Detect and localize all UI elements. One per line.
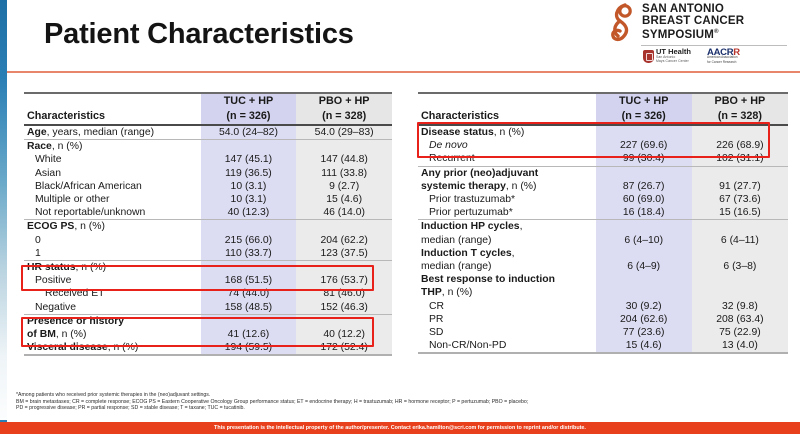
table-row: Negative158 (48.5)152 (46.3) xyxy=(24,301,392,315)
row-label-bold: systemic therapy xyxy=(421,181,506,192)
row-label: Received ET xyxy=(24,287,201,300)
row-label-bold: HR status xyxy=(27,262,76,273)
row-label-rest: , n (%) xyxy=(76,262,107,273)
row-label: Asian xyxy=(24,167,201,180)
cell-tuc-hp: 40 (12.3) xyxy=(201,206,297,220)
row-label: Prior pertuzumab* xyxy=(418,206,596,220)
row-label: systemic therapy, n (%) xyxy=(418,180,596,193)
cell-pbo-hp: 226 (68.9) xyxy=(692,139,788,152)
logo-trademark: ® xyxy=(714,29,719,35)
row-label-rest: median (range) xyxy=(421,261,491,272)
row-label: Negative xyxy=(24,301,201,315)
footnotes: *Among patients who received prior syste… xyxy=(16,392,788,412)
row-label: Best response to induction xyxy=(418,273,596,286)
row-label-bold: ECOG PS xyxy=(27,221,74,232)
table-row: Multiple or other10 (3.1)15 (4.6) xyxy=(24,193,392,206)
row-label-rest: Non-CR/Non-PD xyxy=(429,340,506,351)
cell-tuc-hp: 158 (48.5) xyxy=(201,301,297,315)
table-row: Induction HP cycles, xyxy=(418,220,788,234)
cell-tuc-hp xyxy=(201,220,297,234)
row-label-bold: Induction HP cycles xyxy=(421,221,520,232)
row-label: Multiple or other xyxy=(24,193,201,206)
aacr-sub1: American Association xyxy=(707,55,740,60)
row-label: White xyxy=(24,153,201,166)
row-label-bold: Disease status xyxy=(421,127,494,138)
cell-pbo-hp: 81 (46.0) xyxy=(296,287,392,300)
cell-pbo-hp xyxy=(296,314,392,328)
table-row: THP, n (%) xyxy=(418,286,788,299)
row-label: Prior trastuzumab* xyxy=(418,193,596,206)
patient-characteristics-table-right: TUC + HP PBO + HP Characteristics (n = 3… xyxy=(418,92,788,354)
cell-tuc-hp: 10 (3.1) xyxy=(201,193,297,206)
cell-pbo-hp xyxy=(692,125,788,139)
row-label-rest: Prior pertuzumab* xyxy=(429,207,513,218)
table-row: ECOG PS, n (%) xyxy=(24,220,392,234)
cell-pbo-hp: 9 (2.7) xyxy=(296,180,392,193)
row-label-rest: , xyxy=(520,221,523,232)
table-row: SD77 (23.6)75 (22.9) xyxy=(418,326,788,339)
table-row: 0215 (66.0)204 (62.2) xyxy=(24,234,392,247)
logo-line-3: SYMPOSIUM xyxy=(642,29,714,41)
cell-tuc-hp: 41 (12.6) xyxy=(201,328,297,341)
table-row: median (range)6 (4–10)6 (4–11) xyxy=(418,234,788,247)
cell-pbo-hp: 147 (44.8) xyxy=(296,153,392,166)
row-label-bold: Race xyxy=(27,141,52,152)
row-label: Presence or history xyxy=(24,314,201,328)
cell-pbo-hp: 208 (63.4) xyxy=(692,313,788,326)
cell-tuc-hp: 74 (44.0) xyxy=(201,287,297,300)
cell-tuc-hp xyxy=(596,273,692,286)
cell-pbo-hp: 172 (52.4) xyxy=(296,341,392,355)
row-label-rest: , n (%) xyxy=(108,342,139,353)
table-row: Visceral disease, n (%)194 (59.5)172 (52… xyxy=(24,341,392,355)
row-label: Non-CR/Non-PD xyxy=(418,339,596,353)
cell-tuc-hp: 15 (4.6) xyxy=(596,339,692,353)
cell-pbo-hp: 75 (22.9) xyxy=(692,326,788,339)
row-label-bold: Presence or history xyxy=(27,316,124,327)
row-label: Not reportable/unknown xyxy=(24,206,201,220)
cell-pbo-hp: 13 (4.0) xyxy=(692,339,788,353)
cell-tuc-hp xyxy=(201,140,297,154)
row-label: 0 xyxy=(24,234,201,247)
row-label: of BM, n (%) xyxy=(24,328,201,341)
row-label-rest: Prior trastuzumab* xyxy=(429,194,515,205)
row-label: Recurrent xyxy=(418,152,596,166)
table-row: Age, years, median (range)54.0 (24–82)54… xyxy=(24,125,392,140)
aacr-sub2: for Cancer Research xyxy=(707,60,740,65)
table-row: Non-CR/Non-PD15 (4.6)13 (4.0) xyxy=(418,339,788,353)
cell-tuc-hp: 168 (51.5) xyxy=(201,274,297,287)
cell-pbo-hp: 54.0 (29–83) xyxy=(296,125,392,140)
ut-health-logo: UT Health San Antonio Mays Cancer Center xyxy=(643,48,691,64)
table-row: median (range)6 (4–9)6 (3–8) xyxy=(418,260,788,273)
row-label-rest: median (range) xyxy=(421,235,491,246)
row-label: Black/African American xyxy=(24,180,201,193)
cell-tuc-hp xyxy=(596,220,692,234)
table-row: PR204 (62.6)208 (63.4) xyxy=(418,313,788,326)
cell-pbo-hp: 176 (53.7) xyxy=(296,274,392,287)
cell-tuc-hp: 6 (4–10) xyxy=(596,234,692,247)
cell-tuc-hp: 10 (3.1) xyxy=(201,180,297,193)
footnote-line-2: BM = brain metastases; CR = complete res… xyxy=(16,399,788,406)
cell-pbo-hp xyxy=(296,261,392,275)
row-label-bold: THP xyxy=(421,287,442,298)
cell-tuc-hp: 87 (26.7) xyxy=(596,180,692,193)
row-label: THP, n (%) xyxy=(418,286,596,299)
cell-tuc-hp: 30 (9.2) xyxy=(596,300,692,313)
row-label-rest: , n (%) xyxy=(74,221,105,232)
title-divider-rule xyxy=(7,71,800,73)
row-label-rest: Multiple or other xyxy=(35,194,110,205)
copyright-banner: This presentation is the intellectual pr… xyxy=(0,422,800,434)
sabcs-ribbon-icon xyxy=(605,3,639,43)
table-left-header-spacer xyxy=(24,93,201,109)
row-label: HR status, n (%) xyxy=(24,261,201,275)
table-row: Recurrent99 (30.4)102 (31.1) xyxy=(418,152,788,166)
row-label-rest: , years, median (range) xyxy=(47,127,154,138)
cell-tuc-hp: 227 (69.6) xyxy=(596,139,692,152)
row-label: Visceral disease, n (%) xyxy=(24,341,201,355)
table-row: Black/African American10 (3.1)9 (2.7) xyxy=(24,180,392,193)
table-right-header-col-a-line2: (n = 326) xyxy=(596,109,692,125)
table-row: systemic therapy, n (%)87 (26.7)91 (27.7… xyxy=(418,180,788,193)
table-row: Race, n (%) xyxy=(24,140,392,154)
cell-tuc-hp xyxy=(596,125,692,139)
table-row: White147 (45.1)147 (44.8) xyxy=(24,153,392,166)
row-label-rest: , xyxy=(512,248,515,259)
table-left-header-col-a-line2: (n = 326) xyxy=(201,109,297,125)
row-label-rest: De novo xyxy=(429,140,468,151)
cell-pbo-hp: 204 (62.2) xyxy=(296,234,392,247)
cell-tuc-hp: 6 (4–9) xyxy=(596,260,692,273)
cell-tuc-hp: 99 (30.4) xyxy=(596,152,692,166)
aacr-logo: AACRR American Association for Cancer Re… xyxy=(707,48,740,65)
row-label: median (range) xyxy=(418,234,596,247)
ut-health-sub2: Mays Cancer Center xyxy=(656,59,691,64)
cell-tuc-hp: 16 (18.4) xyxy=(596,206,692,220)
row-label: Induction T cycles, xyxy=(418,247,596,260)
cell-pbo-hp: 32 (9.8) xyxy=(692,300,788,313)
cell-tuc-hp: 194 (59.5) xyxy=(201,341,297,355)
table-right-header-col-b-line1: PBO + HP xyxy=(692,93,788,109)
table-right-header-col-a-line1: TUC + HP xyxy=(596,93,692,109)
table-left-header-col-a-line1: TUC + HP xyxy=(201,93,297,109)
cell-pbo-hp: 123 (37.5) xyxy=(296,247,392,261)
row-label-bold: of BM xyxy=(27,329,56,340)
row-label-rest: Negative xyxy=(35,302,76,313)
table-left-header-characteristics: Characteristics xyxy=(24,109,201,125)
table-row: Positive168 (51.5)176 (53.7) xyxy=(24,274,392,287)
cell-pbo-hp: 67 (73.6) xyxy=(692,193,788,206)
row-label-rest: Asian xyxy=(35,168,61,179)
row-label-rest: SD xyxy=(429,327,443,338)
cell-tuc-hp xyxy=(201,314,297,328)
row-label-rest: , n (%) xyxy=(506,181,537,192)
table-row: Received ET74 (44.0)81 (46.0) xyxy=(24,287,392,300)
cell-pbo-hp xyxy=(296,220,392,234)
row-label: CR xyxy=(418,300,596,313)
cell-pbo-hp: 111 (33.8) xyxy=(296,167,392,180)
cell-tuc-hp: 147 (45.1) xyxy=(201,153,297,166)
row-label: 1 xyxy=(24,247,201,261)
page-title: Patient Characteristics xyxy=(44,18,354,51)
cell-pbo-hp: 91 (27.7) xyxy=(692,180,788,193)
row-label-rest: 1 xyxy=(35,248,41,259)
table-row: 1110 (33.7)123 (37.5) xyxy=(24,247,392,261)
row-label-rest: White xyxy=(35,154,62,165)
logo-line-2: BREAST CANCER xyxy=(642,16,744,28)
cell-pbo-hp xyxy=(692,247,788,260)
row-label-rest: , n (%) xyxy=(442,287,473,298)
row-label: ECOG PS, n (%) xyxy=(24,220,201,234)
row-label: Any prior (neo)adjuvant xyxy=(418,166,596,180)
row-label-rest: PR xyxy=(429,314,443,325)
table-row: Presence or history xyxy=(24,314,392,328)
row-label-rest: Received ET xyxy=(45,288,104,299)
row-label-rest: Positive xyxy=(35,275,71,286)
table-right-header-col-b-line2: (n = 328) xyxy=(692,109,788,125)
table-row: Prior pertuzumab*16 (18.4)15 (16.5) xyxy=(418,206,788,220)
row-label-rest: Not reportable/unknown xyxy=(35,207,145,218)
footnote-line-1: *Among patients who received prior syste… xyxy=(16,392,788,399)
cell-pbo-hp xyxy=(692,220,788,234)
row-label: Race, n (%) xyxy=(24,140,201,154)
cell-pbo-hp xyxy=(296,140,392,154)
row-label: Age, years, median (range) xyxy=(24,125,201,140)
cell-tuc-hp: 77 (23.6) xyxy=(596,326,692,339)
table-row: Induction T cycles, xyxy=(418,247,788,260)
row-label: Disease status, n (%) xyxy=(418,125,596,139)
cell-tuc-hp: 110 (33.7) xyxy=(201,247,297,261)
table-right-header-spacer xyxy=(418,93,596,109)
row-label: De novo xyxy=(418,139,596,152)
cell-tuc-hp xyxy=(201,261,297,275)
row-label-rest: , n (%) xyxy=(52,141,83,152)
cell-tuc-hp xyxy=(596,166,692,180)
table-row: Best response to induction xyxy=(418,273,788,286)
table-row: of BM, n (%)41 (12.6)40 (12.2) xyxy=(24,328,392,341)
row-label-rest: , n (%) xyxy=(494,127,525,138)
row-label-rest: Recurrent xyxy=(429,153,475,164)
cell-pbo-hp: 152 (46.3) xyxy=(296,301,392,315)
cell-pbo-hp: 6 (3–8) xyxy=(692,260,788,273)
sabcs-logo: SAN ANTONIO BREAST CANCER SYMPOSIUM® UT … xyxy=(605,3,790,65)
table-row: Not reportable/unknown40 (12.3)46 (14.0) xyxy=(24,206,392,220)
row-label: SD xyxy=(418,326,596,339)
cell-pbo-hp: 46 (14.0) xyxy=(296,206,392,220)
table-row: Asian119 (36.5)111 (33.8) xyxy=(24,167,392,180)
footnote-line-3: PD = progressive disease; PR = partial r… xyxy=(16,405,788,412)
table-row: CR30 (9.2)32 (9.8) xyxy=(418,300,788,313)
row-label: median (range) xyxy=(418,260,596,273)
row-label-rest: Black/African American xyxy=(35,181,142,192)
row-label-bold: Best response to induction xyxy=(421,274,555,285)
row-label-rest: CR xyxy=(429,301,444,312)
cell-pbo-hp: 6 (4–11) xyxy=(692,234,788,247)
cell-tuc-hp: 54.0 (24–82) xyxy=(201,125,297,140)
cell-tuc-hp xyxy=(596,247,692,260)
row-label-bold: Visceral disease xyxy=(27,342,108,353)
cell-pbo-hp: 40 (12.2) xyxy=(296,328,392,341)
left-accent-bar xyxy=(0,0,7,434)
row-label: PR xyxy=(418,313,596,326)
cell-tuc-hp: 215 (66.0) xyxy=(201,234,297,247)
table-row: De novo227 (69.6)226 (68.9) xyxy=(418,139,788,152)
table-row: Any prior (neo)adjuvant xyxy=(418,166,788,180)
table-left-header-col-b-line2: (n = 328) xyxy=(296,109,392,125)
row-label-bold: Induction T cycles xyxy=(421,248,512,259)
row-label-bold: Age xyxy=(27,127,47,138)
patient-characteristics-table-left: TUC + HP PBO + HP Characteristics (n = 3… xyxy=(24,92,392,356)
cell-tuc-hp: 119 (36.5) xyxy=(201,167,297,180)
table-row: Disease status, n (%) xyxy=(418,125,788,139)
row-label: Induction HP cycles, xyxy=(418,220,596,234)
cell-pbo-hp xyxy=(692,273,788,286)
cell-tuc-hp: 204 (62.6) xyxy=(596,313,692,326)
table-row: HR status, n (%) xyxy=(24,261,392,275)
ut-shield-icon xyxy=(643,50,654,63)
table-row: Prior trastuzumab*60 (69.0)67 (73.6) xyxy=(418,193,788,206)
row-label-rest: 0 xyxy=(35,235,41,246)
cell-tuc-hp: 60 (69.0) xyxy=(596,193,692,206)
cell-pbo-hp: 15 (4.6) xyxy=(296,193,392,206)
cell-pbo-hp: 15 (16.5) xyxy=(692,206,788,220)
row-label: Positive xyxy=(24,274,201,287)
cell-pbo-hp xyxy=(692,286,788,299)
table-left-header-col-b-line1: PBO + HP xyxy=(296,93,392,109)
table-right-header-characteristics: Characteristics xyxy=(418,109,596,125)
row-label-rest: , n (%) xyxy=(56,329,87,340)
cell-tuc-hp xyxy=(596,286,692,299)
cell-pbo-hp: 102 (31.1) xyxy=(692,152,788,166)
row-label-bold: Any prior (neo)adjuvant xyxy=(421,168,538,179)
cell-pbo-hp xyxy=(692,166,788,180)
